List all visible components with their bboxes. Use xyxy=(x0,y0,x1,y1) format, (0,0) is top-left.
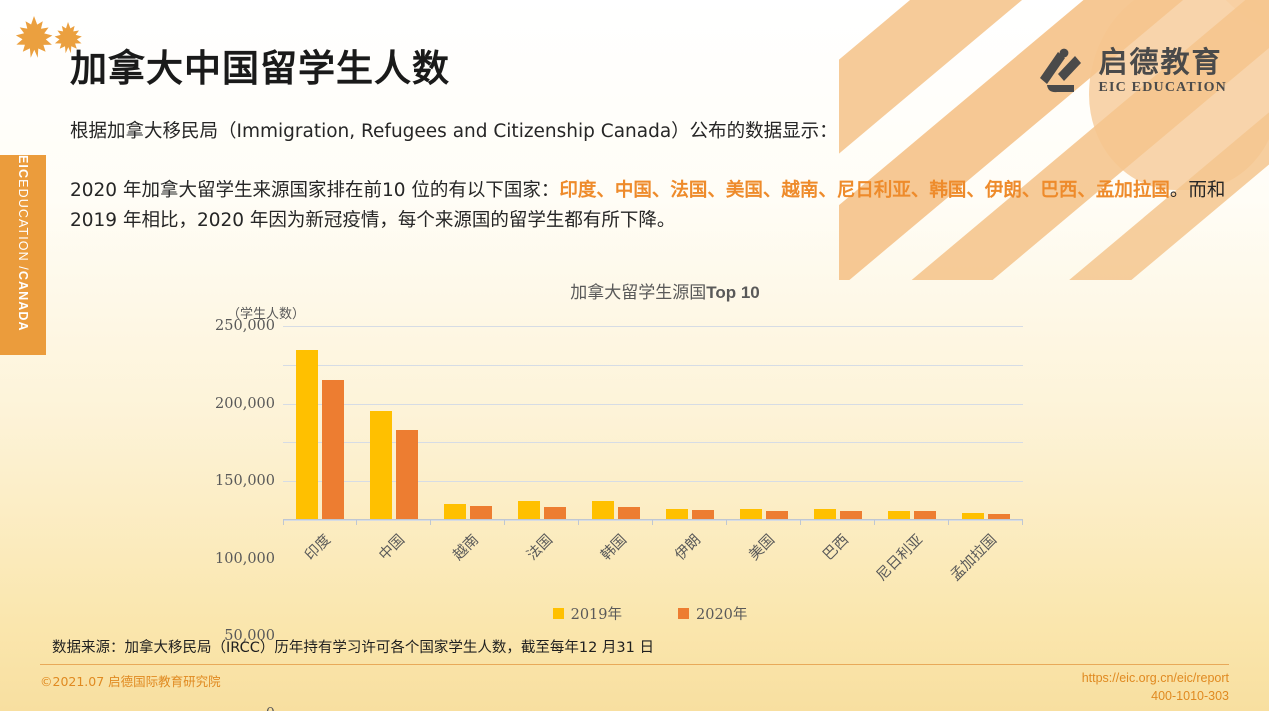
chart-title-en: Top 10 xyxy=(706,283,760,302)
x-axis-label-cell: 巴西 xyxy=(801,525,875,595)
x-axis-label-cell: 越南 xyxy=(431,525,505,595)
bar xyxy=(518,501,540,520)
copyright-text: ©2021.07 启德国际教育研究院 xyxy=(40,671,221,690)
bar-group xyxy=(875,326,949,520)
x-axis-tick-label: 美国 xyxy=(743,529,778,564)
bar xyxy=(296,350,318,520)
logo-text-cn: 启德教育 xyxy=(1098,48,1227,77)
x-axis-tick-label: 法国 xyxy=(521,529,556,564)
phone-number: 400-1010-303 xyxy=(1082,687,1229,705)
y-axis-tick-label: 0 xyxy=(266,706,275,711)
chart-title-cn: 加拿大留学生源国 xyxy=(570,283,706,303)
x-axis-label-cell: 印度 xyxy=(283,525,357,595)
x-axis-label-cell: 法国 xyxy=(505,525,579,595)
sidebar-tab-middle: EDUCATION / xyxy=(16,179,30,271)
x-axis-tick-label: 孟加拉国 xyxy=(945,529,1001,585)
bar-group xyxy=(801,326,875,520)
bar-group xyxy=(431,326,505,520)
chart-x-axis-labels: 印度中国越南法国韩国伊朗美国巴西尼日利亚孟加拉国 xyxy=(283,525,1023,595)
bar xyxy=(322,380,344,520)
y-axis-tick-label: 250,000 xyxy=(215,318,275,334)
chart-x-axis xyxy=(283,519,1023,520)
sidebar-tab: EIC EDUCATION / CANADA xyxy=(0,155,46,355)
legend-item[interactable]: 2020年 xyxy=(678,603,747,624)
x-axis-tick-label: 尼日利亚 xyxy=(871,529,927,585)
summary-paragraph: 2020 年加拿大留学生来源国家排在前10 位的有以下国家：印度、中国、法国、美… xyxy=(70,176,1230,236)
bar-group xyxy=(949,326,1023,520)
x-axis-tick-label: 印度 xyxy=(299,529,334,564)
bar-group xyxy=(505,326,579,520)
x-axis-tick-label: 韩国 xyxy=(595,529,630,564)
summary-text-lead: 2020 年加拿大留学生来源国家排在前10 位的有以下国家： xyxy=(70,180,559,201)
x-axis-label-cell: 美国 xyxy=(727,525,801,595)
sidebar-tab-label: EIC EDUCATION / CANADA xyxy=(0,155,46,355)
x-axis-tick-label: 越南 xyxy=(447,529,482,564)
x-axis-tick-label: 伊朗 xyxy=(669,529,704,564)
y-axis-tick-label: 100,000 xyxy=(215,551,275,567)
x-axis-tick-label: 巴西 xyxy=(817,529,852,564)
logo-text-en: EIC EDUCATION xyxy=(1098,81,1227,95)
legend-label: 2020年 xyxy=(696,603,747,624)
bar-group xyxy=(283,326,357,520)
sidebar-tab-suffix: CANADA xyxy=(16,271,30,332)
x-axis-label-cell: 伊朗 xyxy=(653,525,727,595)
legend-swatch xyxy=(553,608,564,619)
bar-group xyxy=(357,326,431,520)
x-axis-label-cell: 韩国 xyxy=(579,525,653,595)
x-axis-label-cell: 孟加拉国 xyxy=(949,525,1023,595)
slide-canvas: 加拿大中国留学生人数 启德教育 EIC EDUCATION EIC EDUCAT… xyxy=(0,0,1269,711)
eic-logo-mark-icon xyxy=(1034,44,1088,98)
bar-group xyxy=(579,326,653,520)
chart-legend: 2019年2020年 xyxy=(205,603,1035,624)
bar xyxy=(470,506,492,520)
sidebar-tab-prefix: EIC xyxy=(16,155,30,179)
gridline: 0 xyxy=(283,520,1023,521)
bar xyxy=(444,504,466,520)
bar xyxy=(370,411,392,520)
legend-label: 2019年 xyxy=(571,603,622,624)
footer-divider xyxy=(40,664,1229,665)
bar-chart: 加拿大留学生源国Top 10 （学生人数） 050,000100,000150,… xyxy=(205,275,1035,625)
bar xyxy=(592,501,614,520)
x-axis-label-cell: 中国 xyxy=(357,525,431,595)
y-axis-tick-label: 150,000 xyxy=(215,473,275,489)
bar-group xyxy=(727,326,801,520)
chart-plot-area: 050,000100,000150,000200,000250,000 xyxy=(283,326,1023,520)
legend-item[interactable]: 2019年 xyxy=(553,603,622,624)
contact-info: https://eic.org.cn/eic/report 400-1010-3… xyxy=(1082,669,1229,705)
decorative-blob xyxy=(1189,0,1269,40)
legend-swatch xyxy=(678,608,689,619)
chart-bar-groups xyxy=(283,326,1023,520)
x-axis-tick-label: 中国 xyxy=(373,529,408,564)
chart-title: 加拿大留学生源国Top 10 xyxy=(205,278,1035,303)
bar xyxy=(396,430,418,520)
y-axis-tick-label: 200,000 xyxy=(215,396,275,412)
brand-logo: 启德教育 EIC EDUCATION xyxy=(1034,44,1227,98)
page-title: 加拿大中国留学生人数 xyxy=(70,38,450,92)
report-url[interactable]: https://eic.org.cn/eic/report xyxy=(1082,669,1229,687)
x-axis-label-cell: 尼日利亚 xyxy=(875,525,949,595)
bar-group xyxy=(653,326,727,520)
source-note: 数据来源：加拿大移民局（IRCC）历年持有学习许可各个国家学生人数，截至每年12… xyxy=(52,636,654,657)
highlighted-countries: 印度、中国、法国、美国、越南、尼日利亚、韩国、伊朗、巴西、孟加拉国 xyxy=(559,180,1170,201)
intro-paragraph: 根据加拿大移民局（Immigration, Refugees and Citiz… xyxy=(70,117,1130,147)
